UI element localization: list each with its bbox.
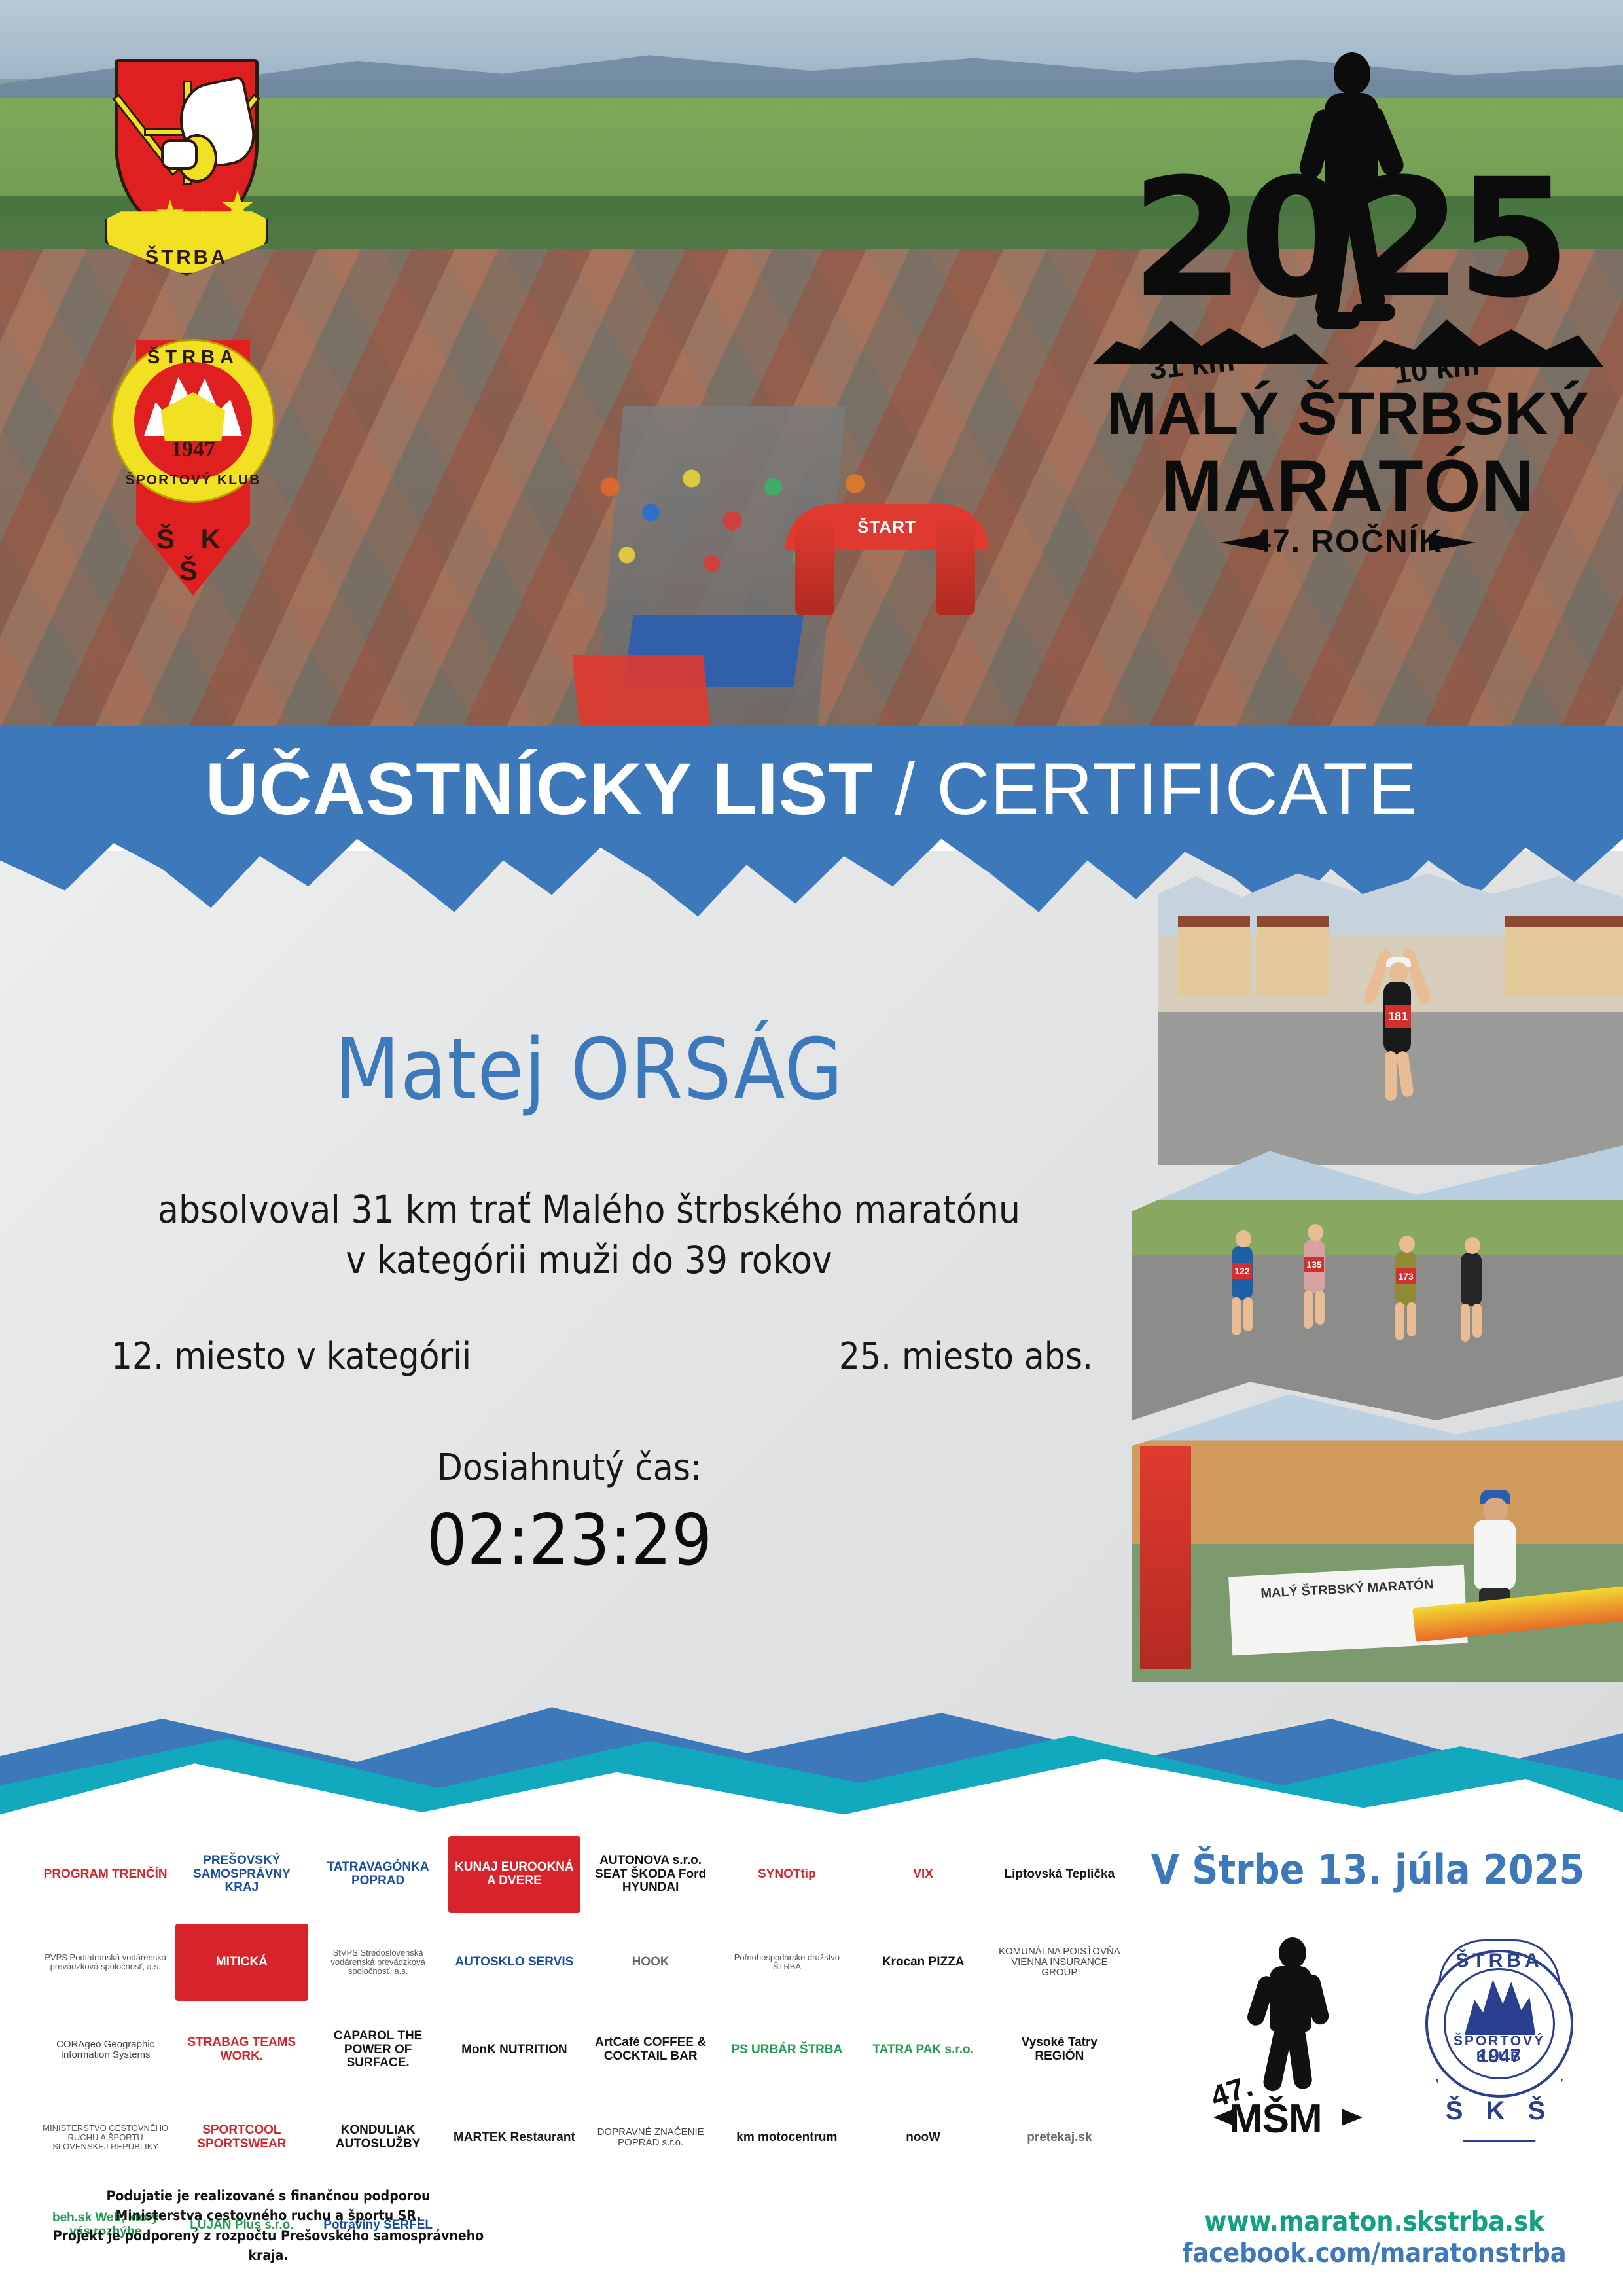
sponsor-logo: nooW [857,2099,990,2176]
funding-disclaimer: Podujatie je realizované s finančnou pod… [39,2186,497,2266]
runner-head [1279,1937,1306,1969]
sponsor-logo: AUTOSKLO SERVIS [448,1924,580,2001]
certificate-title-sk: ÚČASTNÍCKY LIST [205,748,874,830]
sponsor-logo: pretekaj.sk [993,2099,1126,2176]
runner-leg-right [1286,2026,1313,2090]
website-link[interactable]: www.maraton.skstrba.sk [1139,2206,1610,2237]
certificate-title: ÚČASTNÍCKY LIST / CERTIFICATE [0,753,1623,826]
male-finisher-figure [1459,1486,1531,1676]
description-line-2: v kategórii muži do 39 rokov [79,1235,1099,1285]
sponsor-logo: KUNAJ EUROOKNÁ A DVERE [448,1836,580,1913]
runner-leg-right [1315,1291,1325,1325]
stamp-bottom-label: ŠPORTOVÝ KLUB [1428,2034,1571,2065]
runner-leg-right [1243,1297,1253,1331]
msm-runner-stamp: 47. MŠM [1211,1931,1368,2147]
runner-head [1334,52,1370,94]
sponsor-logo: PS URBÁR ŠTRBA [721,2011,853,2089]
sponsor-logo: CAPAROL THE POWER OF SURFACE. [312,2011,444,2089]
stamp-abbr-label: Š K Š [1436,2096,1563,2126]
placement-row: 12. miesto v kategórii 25. miesto abs. [79,1335,1126,1378]
runner-leg-left [1304,1291,1313,1329]
sponsor-logo: SYNOTtip [721,1836,853,1913]
certificate-title-en: CERTIFICATE [936,748,1418,830]
sponsor-logo-grid: PROGRAM TRENČÍNPREŠOVSKÝ SAMOSPRÁVNY KRA… [39,1833,1126,2173]
sponsor-logo: km motocentrum [721,2099,853,2176]
runner-figure [1453,1224,1488,1342]
photo-runners-on-road: 122 135 173 [1132,1145,1623,1420]
runner-leg-left [1232,1297,1241,1335]
sponsor-logo: PVPS Podtatranská vodárenská prevádzková… [39,1924,171,2001]
coat-banner-label: ŠTRBA [105,245,268,269]
strba-coat-of-arms: ŠTRBA [105,29,268,291]
sponsor-logo: KOMUNÁLNA POISŤOVŇA VIENNA INSURANCE GRO… [993,1924,1126,2001]
sponsor-logo: MITICKÁ [175,1924,308,2001]
house-shape [1564,916,1623,995]
race-title-line2: MARATÓN [1086,444,1610,528]
runner-figure: 122 [1224,1217,1259,1335]
facebook-link[interactable]: facebook.com/maratonstrba [1139,2237,1610,2269]
runner-head [1399,1236,1415,1253]
runner-leg-right [1407,1302,1416,1336]
funding-line-1: Podujatie je realizované s finančnou pod… [39,2186,497,2206]
sponsor-logo: Vysoké Tatry REGIÓN [993,2011,1126,2089]
sponsor-logo: Liptovská Teplička [993,1836,1126,1913]
runner-bib-number: 173 [1396,1268,1416,1284]
participant-name: Matej ORSÁG [79,1021,1099,1119]
club-year-label: 1947 [132,437,254,462]
sponsor-logo: TATRAVAGÓNKA POPRAD [312,1836,444,1913]
runner-head [1308,1224,1323,1241]
sponsor-logo: DOPRAVNÉ ZNAČENIE POPRAD s.r.o. [584,2099,717,2176]
finish-time-label: Dosiahnutý čas: [79,1446,1060,1489]
finish-time-value: 02:23:29 [79,1505,1060,1576]
category-place: 12. miesto v kategórii [79,1335,504,1378]
sponsor-logo: CORAgeo Geographic Information Systems [39,2011,171,2089]
photo-finish-line: MALÝ ŠTRBSKÝ MARATÓN [1132,1394,1623,1682]
finish-arch-pole [1140,1446,1191,1669]
sponsor-logo: HOOK [584,1924,717,2001]
sks-strba-club-logo: ŠTRBA 1947 ŠPORTOVÝ KLUB Š K Š [98,327,288,602]
sponsor-logo: STRABAG TEAMS WORK. [175,2011,308,2089]
runner-leg-left [1395,1302,1404,1340]
runner-bib-number: 181 [1385,1005,1411,1028]
sponsor-logo: StVPS Stredoslovenská vodárenská prevádz… [312,1924,444,2001]
club-abbr-label: Š K Š [136,524,250,586]
runner-leg-right [1472,1304,1482,1338]
runner-bib-number: 135 [1304,1257,1324,1272]
certificate-description: absolvoval 31 km trať Malého štrbského m… [79,1185,1099,1285]
contact-links: www.maraton.skstrba.sk facebook.com/mara… [1139,2206,1610,2269]
sponsor-logo: PREŠOVSKÝ SAMOSPRÁVNY KRAJ [175,1836,308,1913]
description-line-1: absolvoval 31 km trať Malého štrbského m… [79,1185,1099,1235]
club-top-label: ŠTRBA [111,347,275,368]
funding-line-2: Ministerstva cestovného ruchu a športu S… [39,2206,497,2225]
heraldic-fist [161,139,198,170]
sponsor-logo: KONDULIAK AUTOSLUŽBY [312,2099,444,2176]
sponsor-logo: PROGRAM TRENČÍN [39,1836,171,1913]
photo-female-finisher: 181 [1158,870,1623,1165]
runner-leg-right [1341,181,1387,314]
funding-line-3: Projekt je podporený z rozpočtu Prešovsk… [39,2226,497,2266]
runner-leg-right [1396,1050,1414,1098]
shield-shape [115,59,259,236]
sponsor-logo: ArtCafé COFFEE & COCKTAIL BAR [584,2011,717,2089]
runner-head [1465,1237,1480,1254]
sponsor-logo: Poľnohospodárske družstvo ŠTRBA [721,1924,853,2001]
runner-head [1236,1230,1251,1247]
sponsor-logo: VIX [857,1836,990,1913]
runner-torso [1270,1966,1311,2032]
photo-collage: 181 122 135 173 [1106,870,1623,1695]
finish-banner-label: MALÝ ŠTRBSKÝ MARATÓN [1228,1565,1465,1604]
race-edition-label: 47. ROČNÍK [1086,524,1610,560]
house-shape [1178,916,1250,995]
runner-bib-number: 122 [1232,1263,1252,1279]
club-bottom-label: ŠPORTOVÝ KLUB [111,473,275,488]
arrow-right-icon [1342,2109,1363,2126]
runner-figure: 173 [1387,1223,1423,1340]
stamp-top-label: ŠTRBA [1438,1950,1560,1972]
sponsor-logo: AUTONOVA s.r.o. SEAT ŠKODA Ford HYUNDAI [584,1836,717,1913]
start-arch-label: ŠTART [785,517,988,537]
sponsor-logo: SPORTCOOL SPORTSWEAR [175,2099,308,2176]
sponsor-logo: MINISTERSTVO CESTOVNÉHO RUCHU A ŠPORTU S… [39,2099,171,2176]
sks-official-stamp: ŠTRBA 1947 ŠPORTOVÝ KLUB Š K Š [1414,1928,1584,2150]
red-tent [572,655,711,726]
issue-date: V Štrbe 13. júla 2025 [1139,1846,1597,1893]
stamp-abbr-label: MŠM [1229,2096,1322,2142]
sponsor-logo: Krocan PIZZA [857,1924,990,2001]
race-title-line1: MALÝ ŠTRBSKÝ [1086,380,1610,448]
stamp-runner-icon [1250,1937,1329,2088]
sponsor-logo: TATRA PAK s.r.o. [857,2011,990,2089]
absolute-place: 25. miesto abs. [806,1335,1126,1378]
runner-head [1389,962,1408,983]
sponsor-logo: MonK NUTRITION [448,2011,580,2089]
runner-singlet [1474,1520,1516,1590]
runner-torso [1461,1253,1482,1306]
runner-leg-left [1385,1051,1397,1101]
runner-figure: 135 [1296,1211,1331,1329]
house-shape [1257,916,1329,995]
sponsor-logo: MARTEK Restaurant [448,2099,580,2176]
certificate-title-separator: / [874,748,936,830]
female-runner-figure: 181 [1374,942,1420,1106]
race-logo: 2025 31 km 10 km MALÝ ŠTRBSKÝ MARATÓN 47… [1086,39,1610,615]
runner-leg-left [1461,1304,1470,1342]
